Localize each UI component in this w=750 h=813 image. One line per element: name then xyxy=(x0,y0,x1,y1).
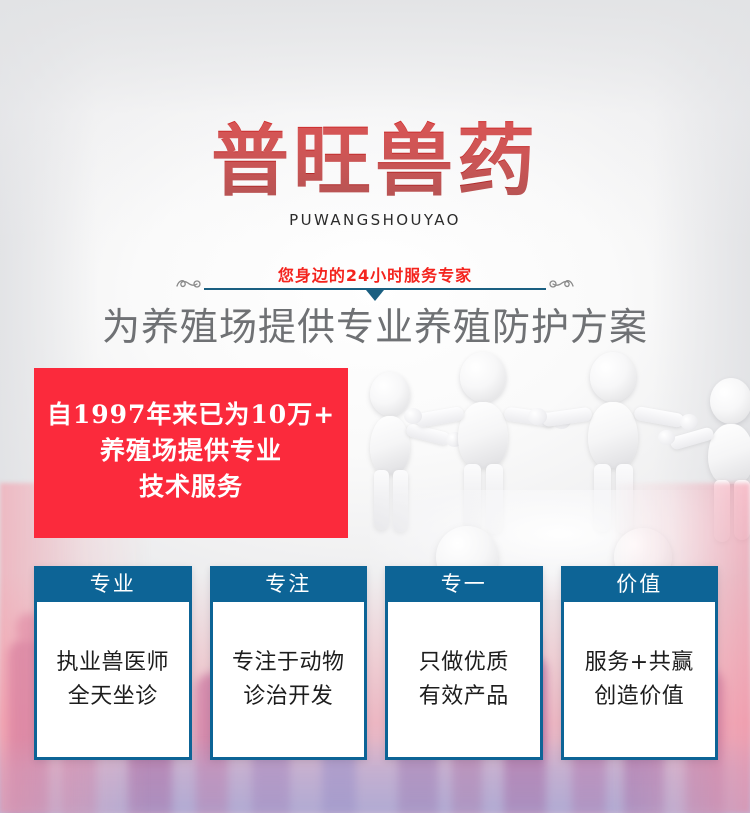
flourish-left-icon xyxy=(175,274,203,292)
highlight-line-3: 技术服务 xyxy=(47,469,335,505)
highlight-box: 自1997年来已为10万+ 养殖场提供专业 技术服务 xyxy=(34,368,348,538)
feature-card-line-1: 服务+共赢 xyxy=(585,646,694,680)
feature-card-focus[interactable]: 专注 专注于动物 诊治开发 xyxy=(210,566,368,760)
feature-card-value[interactable]: 价值 服务+共赢 创造价值 xyxy=(561,566,719,760)
feature-card-professional[interactable]: 专业 执业兽医师 全天坐诊 xyxy=(34,566,192,760)
feature-card-line-1: 专注于动物 xyxy=(232,646,345,680)
feature-card-line-2: 有效产品 xyxy=(419,680,509,714)
feature-card-line-1: 只做优质 xyxy=(419,646,509,680)
flourish-right-icon xyxy=(547,274,575,292)
feature-card-dedicated[interactable]: 专一 只做优质 有效产品 xyxy=(385,566,543,760)
feature-card-body: 服务+共赢 创造价值 xyxy=(564,602,716,757)
company-logo-cn: 普旺兽药 xyxy=(0,118,750,206)
subtitle-rule: 您身边的24小时服务专家 xyxy=(175,262,575,296)
feature-card-title: 专业 xyxy=(34,566,192,602)
feature-card-line-2: 诊治开发 xyxy=(232,680,345,714)
highlight-line-1: 自1997年来已为10万+ xyxy=(47,397,335,433)
feature-card-title: 价值 xyxy=(561,566,719,602)
feature-card-line-2: 创造价值 xyxy=(585,680,694,714)
highlight-box-text: 自1997年来已为10万+ 养殖场提供专业 技术服务 xyxy=(47,397,335,509)
feature-card-title: 专一 xyxy=(385,566,543,602)
highlight-line-2: 养殖场提供专业 xyxy=(47,433,335,469)
feature-card-line-2: 全天坐诊 xyxy=(56,680,169,714)
page-headline: 为养殖场提供专业养殖防护方案 xyxy=(0,303,750,351)
feature-card-body: 执业兽医师 全天坐诊 xyxy=(37,602,189,757)
triangle-down-icon xyxy=(366,290,384,301)
feature-card-body: 专注于动物 诊治开发 xyxy=(213,602,365,757)
feature-card-list: 专业 执业兽医师 全天坐诊 专注 专注于动物 诊治开发 专一 只做优质 xyxy=(34,566,718,760)
promo-banner: 普旺兽药 PUWANGSHOUYAO 您身边的24小时服务专家 为养殖场提供专业… xyxy=(0,0,750,813)
company-logo-en: PUWANGSHOUYAO xyxy=(0,211,750,229)
feature-card-line-1: 执业兽医师 xyxy=(56,646,169,680)
subtitle-caption: 您身边的24小时服务专家 xyxy=(175,262,575,286)
feature-card-body: 只做优质 有效产品 xyxy=(388,602,540,757)
feature-card-title: 专注 xyxy=(210,566,368,602)
